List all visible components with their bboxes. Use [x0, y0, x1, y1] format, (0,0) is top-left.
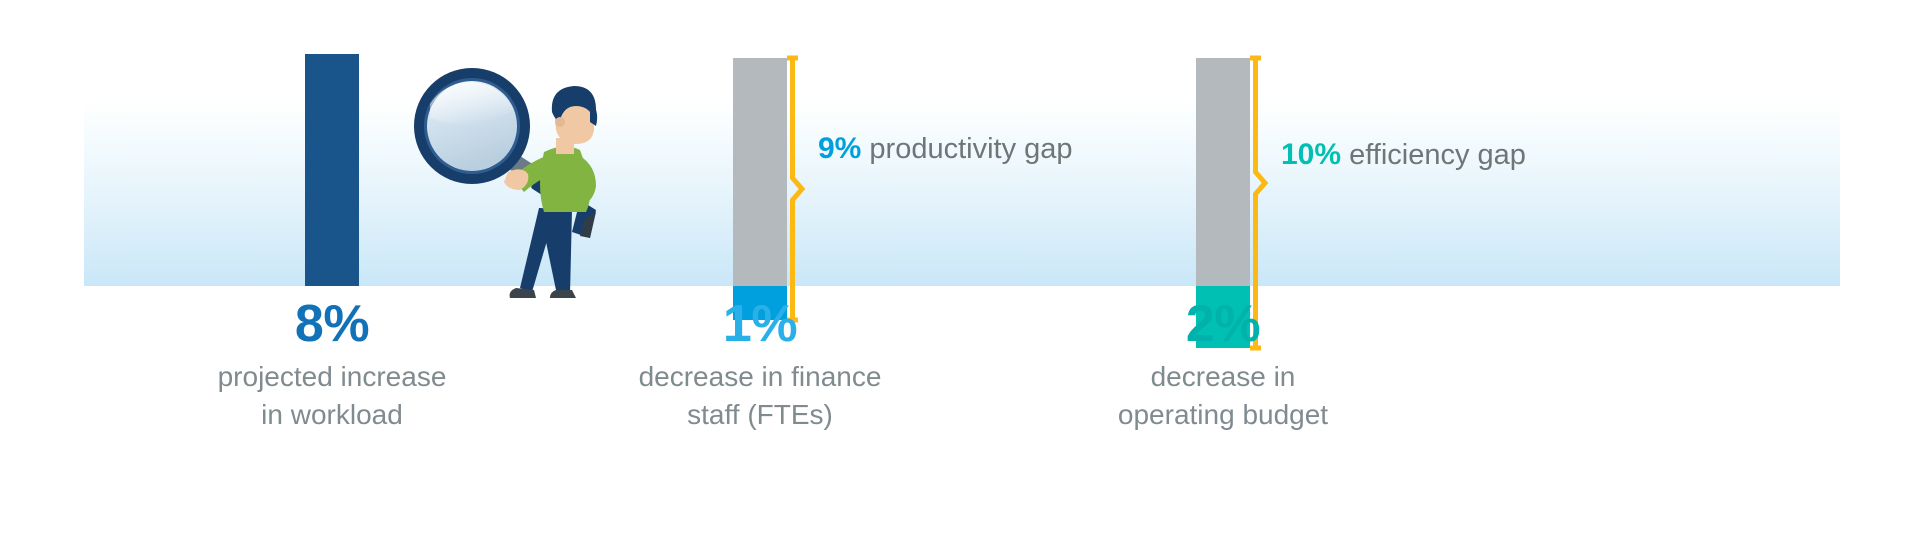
efficiency-gap-text: efficiency gap: [1341, 139, 1526, 171]
shoe-right: [550, 290, 576, 298]
stat-block-operating-budget: 2% decrease in operating budget: [1043, 292, 1403, 434]
stat-caption-workload: projected increase in workload: [152, 358, 512, 434]
person-with-magnifying-glass-illustration: [404, 60, 634, 320]
ear: [555, 117, 565, 127]
stat-block-workload: 8% projected increase in workload: [152, 292, 512, 434]
stat-number-workload: 8%: [152, 292, 512, 356]
stat-number-finance-staff: 1%: [580, 292, 940, 356]
stat-caption-operating-budget: decrease in operating budget: [1043, 358, 1403, 434]
efficiency-gap-label: 10% efficiency gap: [1281, 136, 1611, 174]
bar-operating-budget-gray-segment: [1196, 58, 1250, 286]
stat-number-operating-budget: 2%: [1043, 292, 1403, 356]
bar-projected-increase-workload: [305, 54, 359, 286]
magnifier-lens-icon: [414, 68, 530, 184]
bar-finance-staff-gray-segment: [733, 58, 787, 286]
stat-block-finance-staff: 1% decrease in finance staff (FTEs): [580, 292, 940, 434]
productivity-gap-percent: 9%: [818, 132, 861, 165]
productivity-gap-text: productivity gap: [861, 133, 1072, 165]
stat-caption-finance-staff: decrease in finance staff (FTEs): [580, 358, 940, 434]
efficiency-gap-percent: 10%: [1281, 138, 1341, 171]
productivity-gap-label: 9% productivity gap: [818, 130, 1148, 168]
infographic-canvas: 9% productivity gap 10% efficiency gap 8…: [0, 0, 1920, 549]
